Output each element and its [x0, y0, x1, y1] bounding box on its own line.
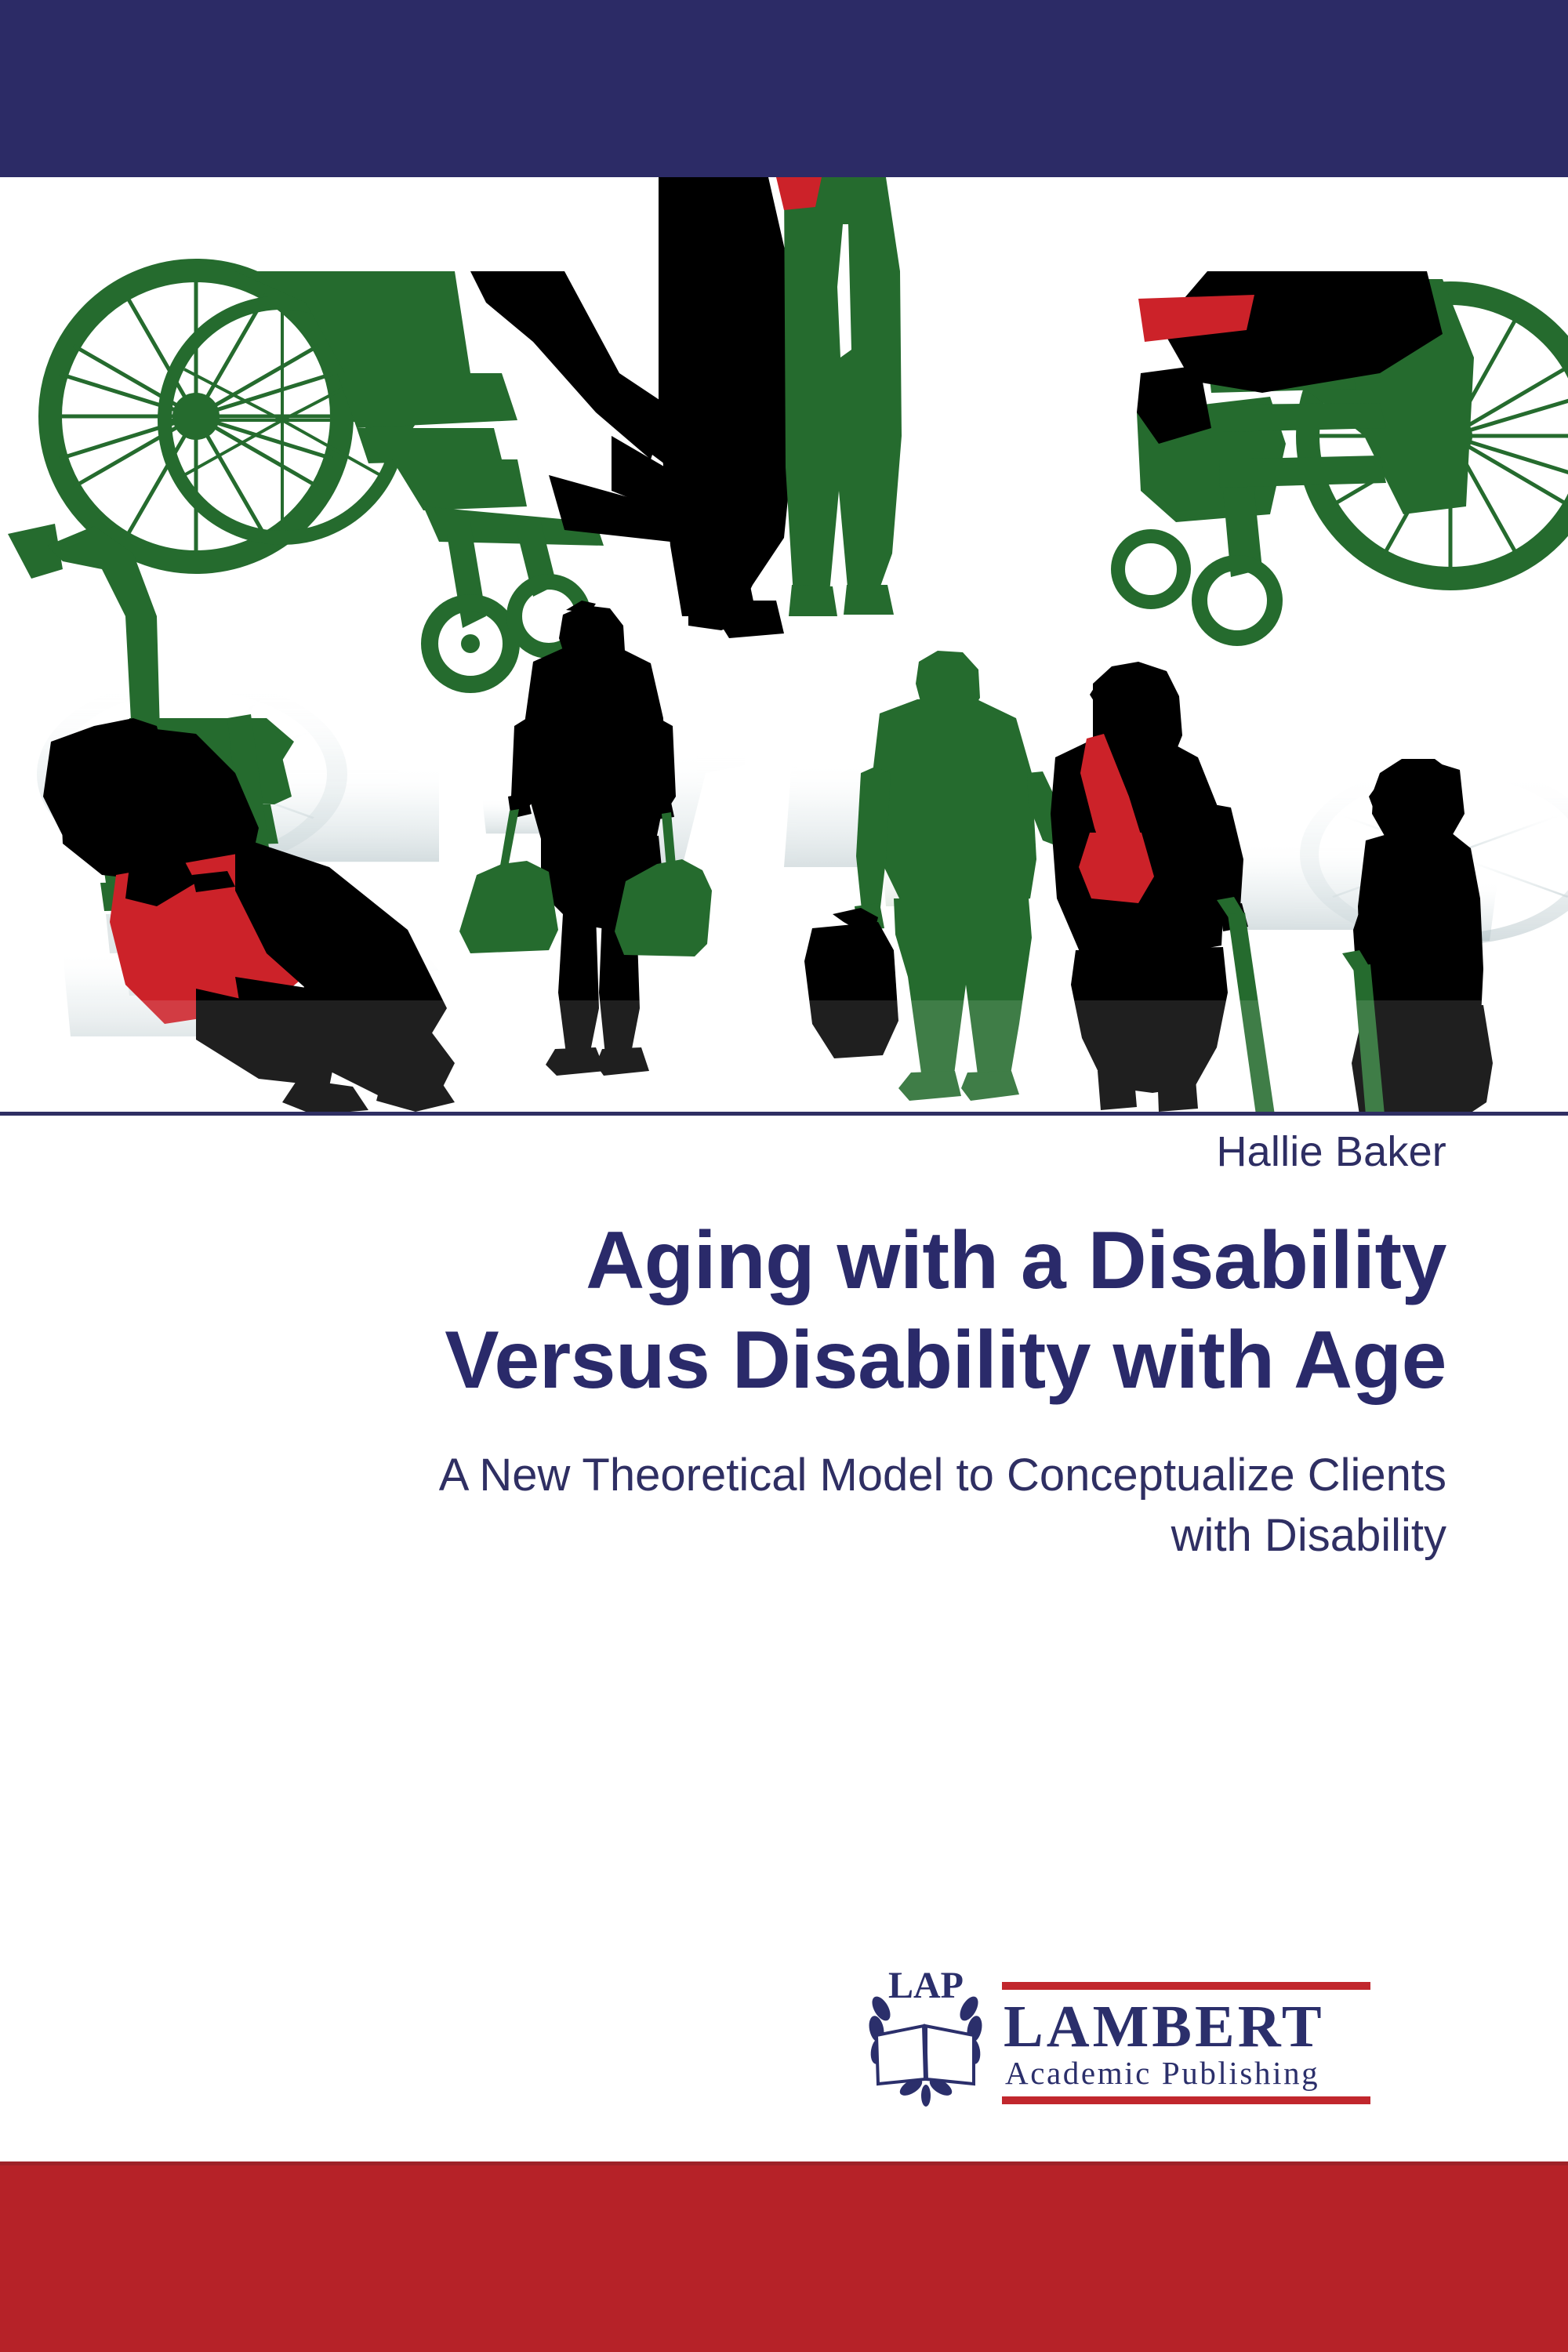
lap-emblem-text: LAP — [888, 1965, 964, 2006]
cover-illustration — [0, 177, 1568, 1115]
publisher-name-text: LAMBERT — [1004, 1994, 1325, 2060]
author-name: Hallie Baker — [0, 1129, 1568, 1175]
lap-lambert-logo: LAP LAMBERT Academic Publishing — [862, 1954, 1490, 2126]
page-subtitle: A New Theoretical Model to Conceptualize… — [0, 1445, 1568, 1566]
header-divider — [0, 1112, 1568, 1116]
title-line-2: Versus Disability with Age — [0, 1311, 1446, 1410]
lap-emblem-icon: LAP — [867, 1965, 985, 2107]
logo-top-rule — [1002, 1982, 1370, 1990]
cover-text-block: Hallie Baker Aging with a Disability Ver… — [0, 1129, 1568, 1566]
logo-bottom-rule — [1002, 2096, 1370, 2104]
publisher-logo: LAP LAMBERT Academic Publishing — [862, 1954, 1490, 2126]
publisher-name-block: LAMBERT Academic Publishing — [1002, 1982, 1370, 2104]
silhouette-artwork — [0, 177, 1568, 1115]
subtitle-line-1: A New Theoretical Model to Conceptualize… — [0, 1445, 1446, 1505]
title-line-1: Aging with a Disability — [0, 1211, 1446, 1311]
bottom-red-bar — [0, 2165, 1568, 2352]
subtitle-line-2: with Disability — [0, 1505, 1446, 1566]
publisher-tagline-text: Academic Publishing — [1005, 2055, 1319, 2091]
top-navy-banner — [0, 0, 1568, 177]
book-cover: Hallie Baker Aging with a Disability Ver… — [0, 0, 1568, 2352]
page-title: Aging with a Disability Versus Disabilit… — [0, 1211, 1568, 1410]
